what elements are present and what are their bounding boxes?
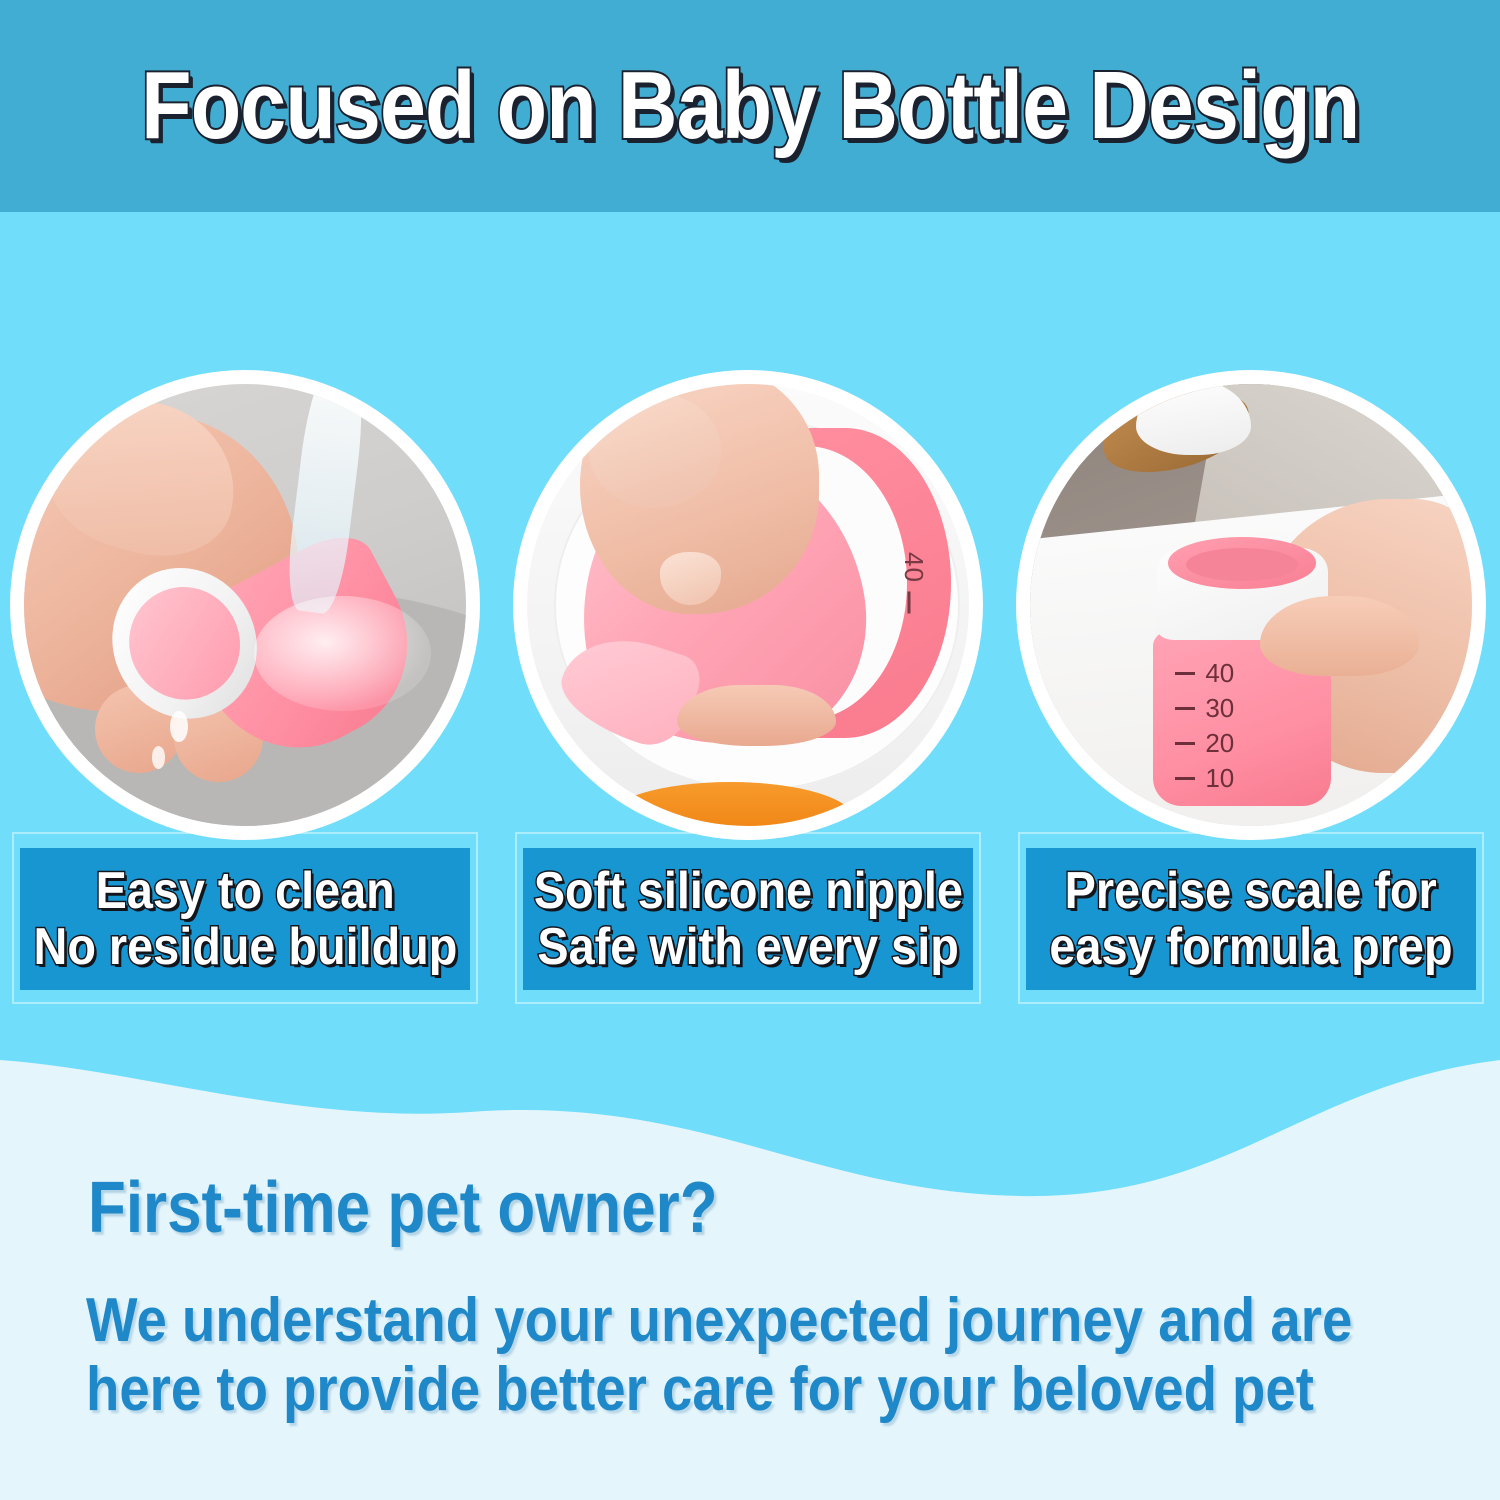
page-title: Focused on Baby Bottle Design (141, 58, 1359, 154)
squeeze-nipple-scene-icon: 40 (527, 384, 969, 826)
scale-mark-30: 30 (1205, 695, 1234, 721)
formula-scoop-scene-icon: 40 30 20 10 (1030, 384, 1472, 826)
bottle-measurement-scale: 40 30 20 10 (1175, 660, 1234, 800)
bottom-body-line-2: here to provide better care for your bel… (86, 1355, 1265, 1424)
scale-mark-40: 40 (898, 552, 929, 583)
caption-line-2: Safe with every sip (537, 919, 958, 975)
card-caption: Easy to clean No residue buildup (20, 848, 470, 990)
feature-card: 40 30 20 10 Precise scale for easy formu… (1014, 370, 1492, 1010)
product-photo-circle (10, 370, 480, 840)
product-photo-circle: 40 (513, 370, 983, 840)
scale-tick-icon (908, 591, 911, 613)
product-photo-circle: 40 30 20 10 (1016, 370, 1486, 840)
caption-line-1: Easy to clean (95, 863, 394, 919)
bottom-body-line-1: We understand your unexpected journey an… (86, 1286, 1265, 1355)
wave-divider-icon (0, 1000, 1500, 1500)
caption-line-1: Soft silicone nipple (533, 863, 962, 919)
feature-card-row: Easy to clean No residue buildup (0, 370, 1500, 1010)
caption-line-1: Precise scale for (1065, 863, 1437, 919)
card-caption: Precise scale for easy formula prep (1026, 848, 1476, 990)
scale-mark-20: 20 (1205, 730, 1234, 756)
bottom-wave-panel (0, 1000, 1500, 1500)
caption-line-2: No residue buildup (33, 919, 457, 975)
formula-powder-icon (1136, 384, 1251, 455)
infographic-page: Focused on Baby Bottle Design (0, 0, 1500, 1500)
bottom-body-text: We understand your unexpected journey an… (86, 1286, 1265, 1425)
washing-bottle-scene-icon (24, 384, 466, 826)
feature-card: Easy to clean No residue buildup (8, 370, 486, 1010)
card-caption: Soft silicone nipple Safe with every sip (523, 848, 973, 990)
caption-line-2: easy formula prep (1049, 919, 1452, 975)
scale-mark-10: 10 (1205, 765, 1234, 791)
header-bar: Focused on Baby Bottle Design (0, 0, 1500, 212)
scale-mark-40: 40 (1205, 660, 1234, 686)
bottom-lead-heading: First-time pet owner? (88, 1172, 718, 1244)
feature-card: 40 Soft silicone nipple Safe with every … (511, 370, 989, 1010)
